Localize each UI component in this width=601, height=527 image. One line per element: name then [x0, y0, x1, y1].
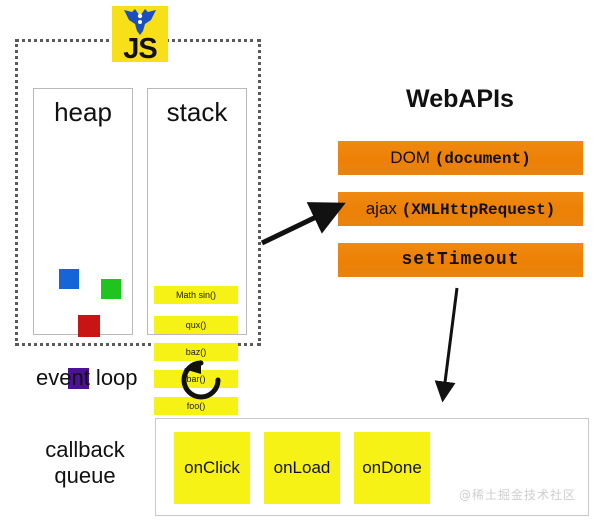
callback-item-onload: onLoad — [264, 432, 340, 504]
stack-frame-label: qux() — [186, 320, 207, 330]
callback-queue-label-line1: callback — [20, 437, 150, 463]
arrow-stack-to-webapis — [262, 206, 339, 243]
callback-queue-box: onClick onLoad onDone @稀土掘金技术社区 — [155, 418, 589, 516]
callback-queue-label: callback queue — [20, 437, 150, 489]
callback-item-onclick: onClick — [174, 432, 250, 504]
watermark: @稀土掘金技术社区 — [459, 486, 576, 503]
callback-item-label: onLoad — [274, 458, 331, 478]
callback-queue-label-line2: queue — [20, 463, 150, 489]
api-box-ajax: ajax (XMLHttpRequest) — [338, 192, 583, 226]
js-logo: JS — [112, 6, 168, 62]
stack-frame-1: qux() — [154, 316, 238, 334]
heap-object-blue — [59, 269, 79, 289]
heap-object-green — [101, 279, 121, 299]
callback-item-ondone: onDone — [354, 432, 430, 504]
heap-title: heap — [34, 97, 132, 128]
api-box-dom-label: DOM (document) — [390, 148, 530, 168]
stack-frame-label: baz() — [186, 347, 207, 357]
heap-object-red — [78, 315, 100, 337]
event-loop-label: event loop — [36, 365, 138, 391]
stack-frame-label: Math sin() — [176, 290, 216, 300]
circular-arrow-icon — [178, 357, 224, 403]
api-box-settimeout: setTimeout — [338, 243, 583, 277]
stack-title: stack — [148, 97, 246, 128]
api-box-dom: DOM (document) — [338, 141, 583, 175]
js-logo-text: JS — [112, 34, 168, 64]
heap-panel: heap — [33, 88, 133, 335]
callback-item-label: onDone — [362, 458, 422, 478]
stack-frame-0: Math sin() — [154, 286, 238, 304]
js-logo-mark-icon — [123, 9, 157, 35]
webapis-title: WebAPIs — [360, 85, 560, 114]
callback-item-label: onClick — [184, 458, 240, 478]
api-box-settimeout-label: setTimeout — [401, 250, 519, 270]
api-box-ajax-label: ajax (XMLHttpRequest) — [366, 199, 556, 219]
stack-panel: stack Math sin() qux() baz() bar() foo() — [147, 88, 247, 335]
arrow-webapis-to-queue — [443, 288, 457, 398]
diagram-canvas: JS heap stack Math sin() qux() baz() bar… — [0, 0, 601, 527]
